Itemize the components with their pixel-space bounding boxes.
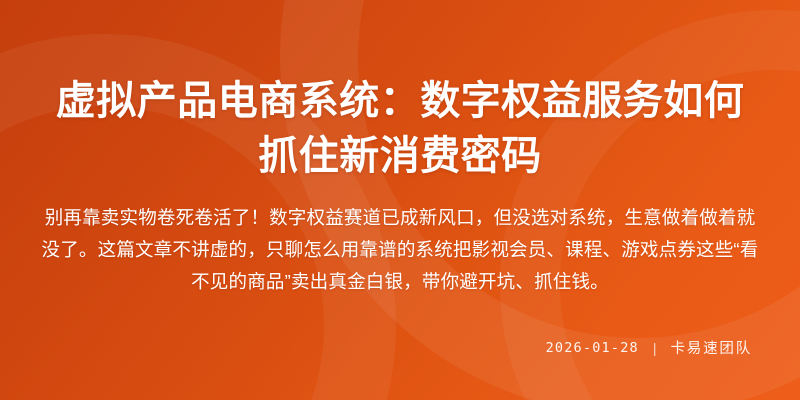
banner-title-line-2: 抓住新消费密码	[56, 129, 745, 184]
banner-subtitle: 别再靠卖实物卷死卷活了！数字权益赛道已成新风口，但没选对系统，生意做着做着就没了…	[38, 184, 762, 298]
banner-title: 虚拟产品电商系统：数字权益服务如何 抓住新消费密码	[56, 0, 745, 184]
banner-title-line-1: 虚拟产品电商系统：数字权益服务如何	[56, 79, 745, 123]
promo-banner: 虚拟产品电商系统：数字权益服务如何 抓住新消费密码 别再靠卖实物卷死卷活了！数字…	[0, 0, 800, 400]
banner-content: 虚拟产品电商系统：数字权益服务如何 抓住新消费密码 别再靠卖实物卷死卷活了！数字…	[0, 0, 800, 400]
